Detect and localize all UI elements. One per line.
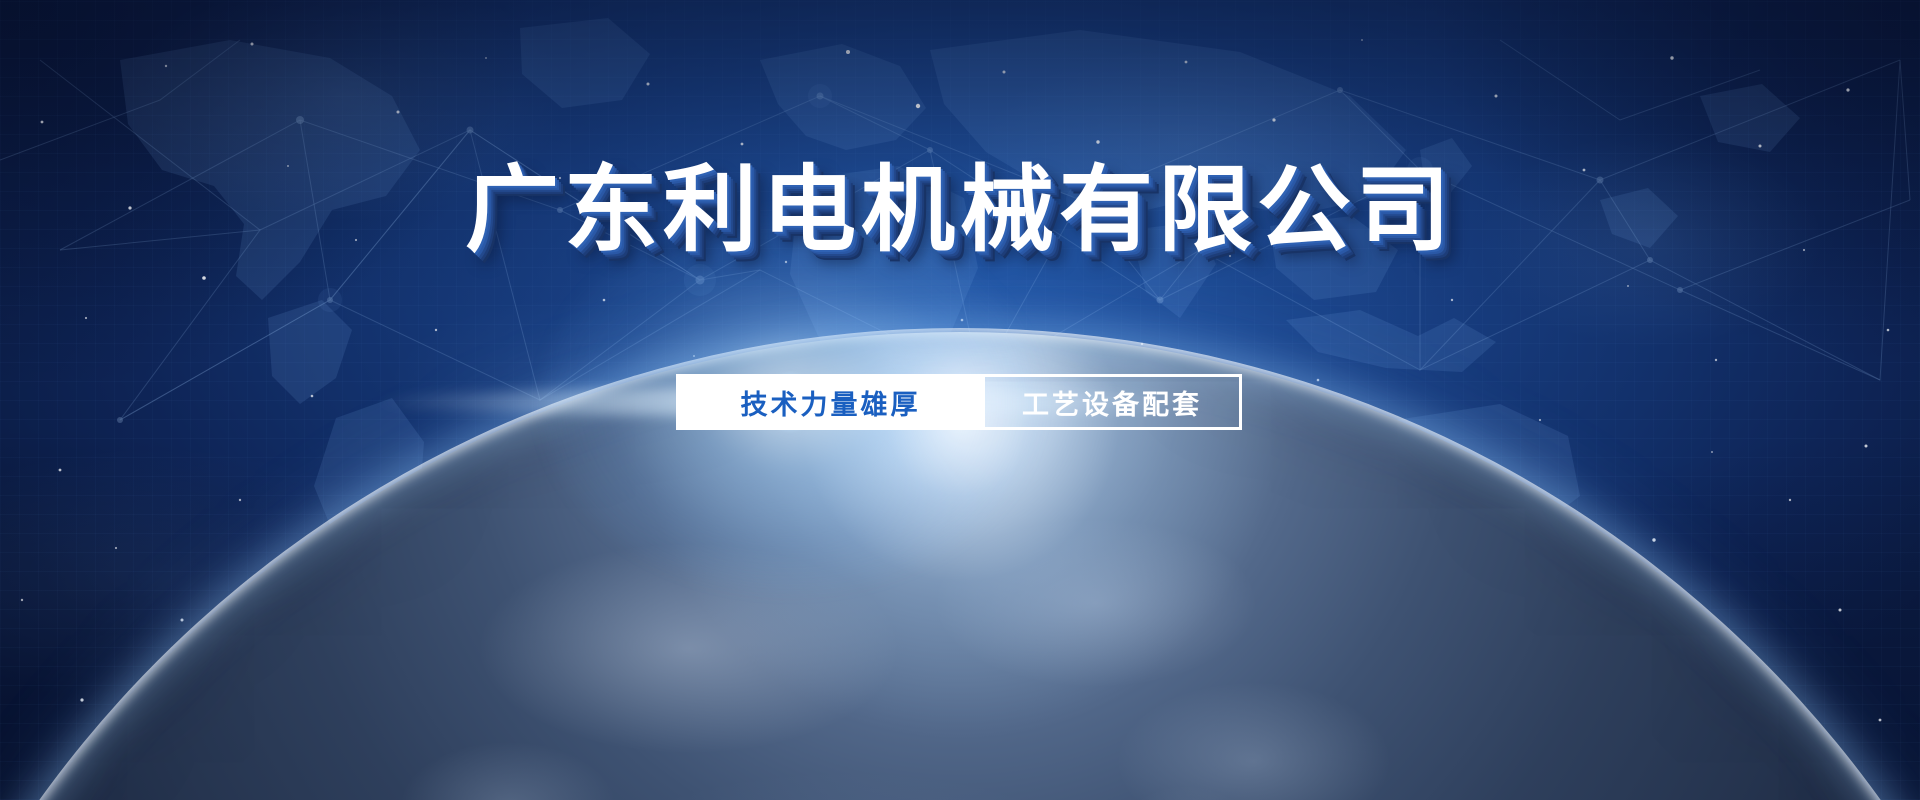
company-title: 广东利电机械有限公司 bbox=[465, 163, 1455, 257]
tagline-technical-strength-label: 技术力量雄厚 bbox=[741, 383, 921, 422]
tagline-bar: 技术力量雄厚 工艺设备配套 bbox=[676, 374, 1242, 430]
page-title: 广东利电机械有限公司 bbox=[0, 163, 1920, 257]
earth-globe bbox=[0, 280, 1920, 800]
tagline-equipment-support: 工艺设备配套 bbox=[985, 374, 1242, 430]
tagline-equipment-support-label: 工艺设备配套 bbox=[1022, 383, 1202, 422]
tagline-technical-strength: 技术力量雄厚 bbox=[676, 374, 985, 430]
hero-banner: 广东利电机械有限公司 技术力量雄厚 工艺设备配套 bbox=[0, 0, 1920, 800]
